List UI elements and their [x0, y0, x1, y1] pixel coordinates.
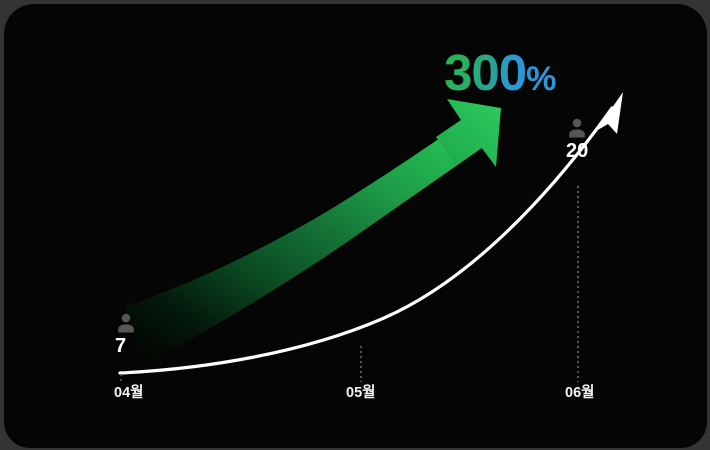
growth-percentage-number: 300 — [444, 44, 526, 101]
data-point-value-jun: 20 — [566, 141, 588, 161]
axis-tick-label-jun: 06월 — [565, 386, 594, 401]
growth-chart-card: 300% 7 20 04월 05월 06월 — [4, 4, 707, 448]
growth-percentage-symbol: % — [526, 60, 556, 98]
axis-tick-label-may: 05월 — [346, 386, 375, 401]
person-icon — [566, 117, 588, 139]
growth-chart-graphic — [4, 4, 707, 448]
screenshot-root: 300% 7 20 04월 05월 06월 — [0, 0, 710, 450]
growth-percentage-callout: 300% — [444, 47, 556, 98]
data-point-value-apr: 7 — [115, 336, 137, 356]
data-point-marker-jun: 20 — [566, 117, 588, 161]
axis-tick-label-apr: 04월 — [114, 386, 143, 401]
data-point-marker-apr: 7 — [115, 312, 137, 356]
green-growth-arrow — [125, 99, 501, 361]
person-icon — [115, 312, 137, 334]
